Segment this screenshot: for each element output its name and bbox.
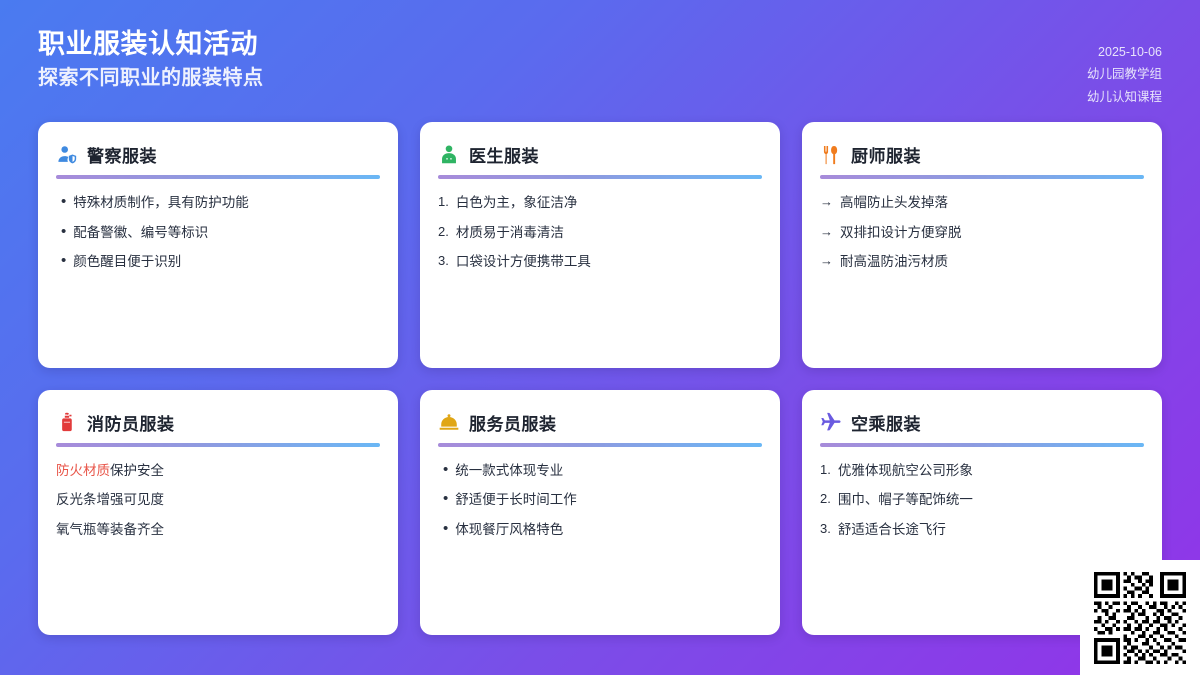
list-item-text: 配备警徽、编号等标识 <box>73 223 208 243</box>
fire-extinguisher-icon <box>56 411 78 433</box>
header-org: 幼儿园教学组 <box>1087 65 1162 84</box>
list-item-text: 体现餐厅风格特色 <box>455 520 563 540</box>
card-item-list: •统一款式体现专业•舒适便于长时间工作•体现餐厅风格特色 <box>438 461 762 540</box>
profession-card[interactable]: 厨师服装→高帽防止头发掉落→双排扣设计方便穿脱→耐高温防油污材质 <box>802 122 1162 368</box>
bullet-marker: • <box>438 461 448 479</box>
list-item-text: 围巾、帽子等配饰统一 <box>838 490 973 510</box>
list-item: •特殊材质制作，具有防护功能 <box>56 193 380 213</box>
number-marker: 1. <box>438 193 449 212</box>
number-marker: 3. <box>438 252 449 271</box>
profession-card[interactable]: 消防员服装防火材质保护安全反光条增强可见度氧气瓶等装备齐全 <box>38 390 398 636</box>
card-header: 消防员服装 <box>56 410 380 435</box>
list-item: •舒适便于长时间工作 <box>438 490 762 510</box>
arrow-marker: → <box>820 193 833 212</box>
header-meta: 2025-10-06 幼儿园教学组 幼儿认知课程 <box>1087 30 1162 107</box>
card-divider <box>820 443 1144 447</box>
number-marker: 1. <box>820 461 831 480</box>
number-marker: 2. <box>820 490 831 509</box>
fork-knife-icon <box>820 144 842 166</box>
card-item-list: 1.优雅体现航空公司形象2.围巾、帽子等配饰统一3.舒适适合长途飞行 <box>820 461 1144 540</box>
profession-card[interactable]: 警察服装•特殊材质制作，具有防护功能•配备警徽、编号等标识•颜色醒目便于识别 <box>38 122 398 368</box>
list-item: →高帽防止头发掉落 <box>820 193 1144 213</box>
card-divider <box>56 175 380 179</box>
list-item-text: 舒适适合长途飞行 <box>838 520 946 540</box>
police-officer-icon <box>56 144 78 166</box>
list-item-text: 特殊材质制作，具有防护功能 <box>73 193 249 213</box>
list-item: 氧气瓶等装备齐全 <box>56 520 380 540</box>
list-item: 3.口袋设计方便携带工具 <box>438 252 762 272</box>
card-divider <box>820 175 1144 179</box>
header-left: 职业服装认知活动 探索不同职业的服装特点 <box>38 30 264 89</box>
list-item-text: 防火材质保护安全 <box>56 461 164 481</box>
list-item: •颜色醒目便于识别 <box>56 252 380 272</box>
header-course: 幼儿认知课程 <box>1087 88 1162 107</box>
qr-code <box>1094 572 1186 664</box>
list-item-text: 双排扣设计方便穿脱 <box>840 223 962 243</box>
card-title: 医生服装 <box>469 142 539 167</box>
list-item-text: 白色为主，象征洁净 <box>456 193 578 213</box>
list-item-text: 高帽防止头发掉落 <box>840 193 948 213</box>
list-item: 2.围巾、帽子等配饰统一 <box>820 490 1144 510</box>
profession-card[interactable]: 服务员服装•统一款式体现专业•舒适便于长时间工作•体现餐厅风格特色 <box>420 390 780 636</box>
airplane-icon <box>820 411 842 433</box>
highlighted-text: 防火材质 <box>56 463 110 478</box>
card-header: 警察服装 <box>56 142 380 167</box>
doctor-icon <box>438 144 460 166</box>
list-item-text: 颜色醒目便于识别 <box>73 252 181 272</box>
list-item: →双排扣设计方便穿脱 <box>820 223 1144 243</box>
service-bell-icon <box>438 411 460 433</box>
card-grid: 警察服装•特殊材质制作，具有防护功能•配备警徽、编号等标识•颜色醒目便于识别医生… <box>38 122 1162 675</box>
card-title: 消防员服装 <box>87 410 175 435</box>
qr-code-panel <box>1080 560 1200 675</box>
list-item: •体现餐厅风格特色 <box>438 520 762 540</box>
card-header: 空乘服装 <box>820 410 1144 435</box>
list-item-text: 耐高温防油污材质 <box>840 252 948 272</box>
page-subtitle: 探索不同职业的服装特点 <box>38 67 264 89</box>
card-item-list: →高帽防止头发掉落→双排扣设计方便穿脱→耐高温防油污材质 <box>820 193 1144 272</box>
header-date: 2025-10-06 <box>1098 43 1162 62</box>
list-item-text: 材质易于消毒清洁 <box>456 223 564 243</box>
list-item-text: 统一款式体现专业 <box>455 461 563 481</box>
list-item: 反光条增强可见度 <box>56 490 380 510</box>
card-header: 厨师服装 <box>820 142 1144 167</box>
list-item: 1.白色为主，象征洁净 <box>438 193 762 213</box>
arrow-marker: → <box>820 252 833 271</box>
card-title: 服务员服装 <box>469 410 557 435</box>
arrow-marker: → <box>820 223 833 242</box>
card-title: 空乘服装 <box>851 410 921 435</box>
list-item-text: 口袋设计方便携带工具 <box>456 252 591 272</box>
bullet-marker: • <box>56 223 66 241</box>
card-header: 服务员服装 <box>438 410 762 435</box>
number-marker: 3. <box>820 520 831 539</box>
card-item-list: •特殊材质制作，具有防护功能•配备警徽、编号等标识•颜色醒目便于识别 <box>56 193 380 272</box>
card-divider <box>56 443 380 447</box>
bullet-marker: • <box>438 490 448 508</box>
slide-header: 职业服装认知活动 探索不同职业的服装特点 2025-10-06 幼儿园教学组 幼… <box>38 30 1162 122</box>
profession-card[interactable]: 医生服装1.白色为主，象征洁净2.材质易于消毒清洁3.口袋设计方便携带工具 <box>420 122 780 368</box>
card-divider <box>438 443 762 447</box>
number-marker: 2. <box>438 223 449 242</box>
list-item: 1.优雅体现航空公司形象 <box>820 461 1144 481</box>
card-title: 厨师服装 <box>851 142 921 167</box>
slide-root: 职业服装认知活动 探索不同职业的服装特点 2025-10-06 幼儿园教学组 幼… <box>0 0 1200 675</box>
card-header: 医生服装 <box>438 142 762 167</box>
page-title: 职业服装认知活动 <box>38 30 264 60</box>
list-item: 防火材质保护安全 <box>56 461 380 481</box>
card-title: 警察服装 <box>87 142 157 167</box>
bullet-marker: • <box>56 193 66 211</box>
bullet-marker: • <box>56 252 66 270</box>
list-item-rest: 保护安全 <box>110 463 164 478</box>
list-item: →耐高温防油污材质 <box>820 252 1144 272</box>
bullet-marker: • <box>438 520 448 538</box>
list-item-text: 优雅体现航空公司形象 <box>838 461 973 481</box>
card-divider <box>438 175 762 179</box>
card-item-list: 1.白色为主，象征洁净2.材质易于消毒清洁3.口袋设计方便携带工具 <box>438 193 762 272</box>
list-item-text: 舒适便于长时间工作 <box>455 490 577 510</box>
list-item: •配备警徽、编号等标识 <box>56 223 380 243</box>
list-item: 3.舒适适合长途飞行 <box>820 520 1144 540</box>
list-item: •统一款式体现专业 <box>438 461 762 481</box>
list-item-text: 反光条增强可见度 <box>56 490 164 510</box>
list-item: 2.材质易于消毒清洁 <box>438 223 762 243</box>
list-item-text: 氧气瓶等装备齐全 <box>56 520 164 540</box>
card-item-list: 防火材质保护安全反光条增强可见度氧气瓶等装备齐全 <box>56 461 380 540</box>
